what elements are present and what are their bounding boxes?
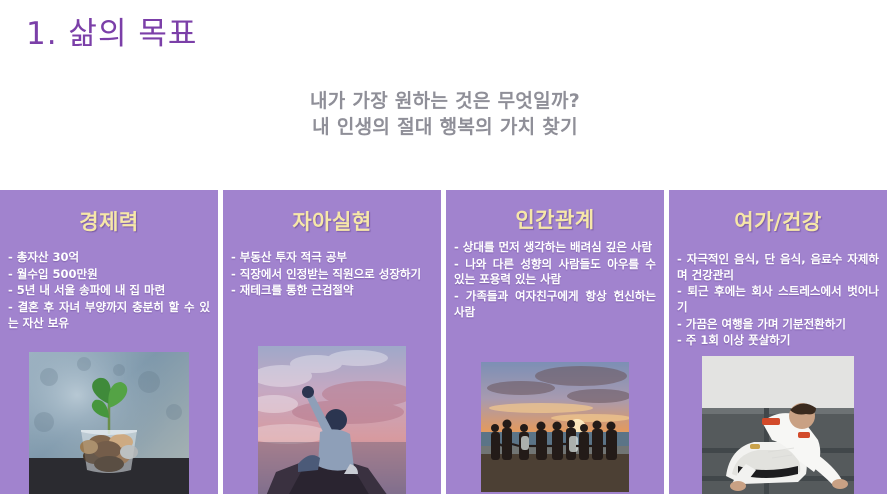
list-item: - 5년 내 서울 송파에 내 집 마련 xyxy=(8,283,210,299)
card-title: 자아실현 xyxy=(223,206,441,236)
card-title: 경제력 xyxy=(0,206,218,236)
person-raising-fist-on-mountain-photo xyxy=(258,346,406,496)
goal-card-self-realization[interactable]: 자아실현 - 부동산 투자 적극 공부 - 직장에서 인정받는 직원으로 성장하… xyxy=(223,190,441,496)
list-item: - 자극적인 음식, 단 음식, 음료수 자제하며 건강관리 xyxy=(677,252,879,283)
subtitle-line-1: 내가 가장 원하는 것은 무엇일까? xyxy=(0,88,890,114)
list-item: - 재테크를 통한 근검절약 xyxy=(231,283,433,299)
coins-in-jar-with-plant-photo xyxy=(29,352,189,496)
page-title: 1. 삶의 목표 xyxy=(26,8,197,53)
list-item: - 주 1회 이상 풋살하기 xyxy=(677,333,879,349)
card-bullet-list: - 자극적인 음식, 단 음식, 음료수 자제하며 건강관리 - 퇴근 후에는 … xyxy=(669,252,887,349)
goal-card-row: 경제력 - 총자산 30억 - 월수입 500만원 - 5년 내 서울 송파에 … xyxy=(0,190,890,496)
list-item: - 퇴근 후에는 회사 스트레스에서 벗어나기 xyxy=(677,284,879,315)
list-item: - 가족들과 여자친구에게 항상 헌신하는 사람 xyxy=(454,289,656,320)
card-bullet-list: - 부동산 투자 적극 공부 - 직장에서 인정받는 직원으로 성장하기 - 재… xyxy=(223,250,441,299)
list-item: - 직장에서 인정받는 직원으로 성장하기 xyxy=(231,267,433,283)
goal-card-leisure-health[interactable]: 여가/건강 - 자극적인 음식, 단 음식, 음료수 자제하며 건강관리 - 퇴… xyxy=(669,190,887,496)
list-item: - 부동산 투자 적극 공부 xyxy=(231,250,433,266)
list-item: - 가끔은 여행을 가며 기분전환하기 xyxy=(677,317,879,333)
jiu-jitsu-grappling-photo xyxy=(702,356,854,496)
list-item: - 월수입 500만원 xyxy=(8,267,210,283)
goal-card-economy[interactable]: 경제력 - 총자산 30억 - 월수입 500만원 - 5년 내 서울 송파에 … xyxy=(0,190,218,496)
list-item: - 나와 다른 성향의 사람들도 아우를 수 있는 포용력 있는 사람 xyxy=(454,257,656,288)
card-bullet-list: - 상대를 먼저 생각하는 배려심 깊은 사람 - 나와 다른 성향의 사람들도… xyxy=(446,240,664,320)
list-item: - 상대를 먼저 생각하는 배려심 깊은 사람 xyxy=(454,240,656,256)
list-item: - 총자산 30억 xyxy=(8,250,210,266)
card-bullet-list: - 총자산 30억 - 월수입 500만원 - 5년 내 서울 송파에 내 집 … xyxy=(0,250,218,331)
goal-card-relationships[interactable]: 인간관계 - 상대를 먼저 생각하는 배려심 깊은 사람 - 나와 다른 성향의… xyxy=(446,190,664,496)
list-item: - 결혼 후 자녀 부양까지 충분히 할 수 있는 자산 보유 xyxy=(8,300,210,331)
subtitle-line-2: 내 인생의 절대 행복의 가치 찾기 xyxy=(0,114,890,140)
group-holding-hands-at-beach-sunset-photo xyxy=(481,362,629,492)
card-title: 인간관계 xyxy=(446,204,664,234)
slide-canvas: 1. 삶의 목표 내가 가장 원하는 것은 무엇일까? 내 인생의 절대 행복의… xyxy=(0,0,890,496)
slide-subtitle: 내가 가장 원하는 것은 무엇일까? 내 인생의 절대 행복의 가치 찾기 xyxy=(0,88,890,140)
card-title: 여가/건강 xyxy=(669,206,887,236)
